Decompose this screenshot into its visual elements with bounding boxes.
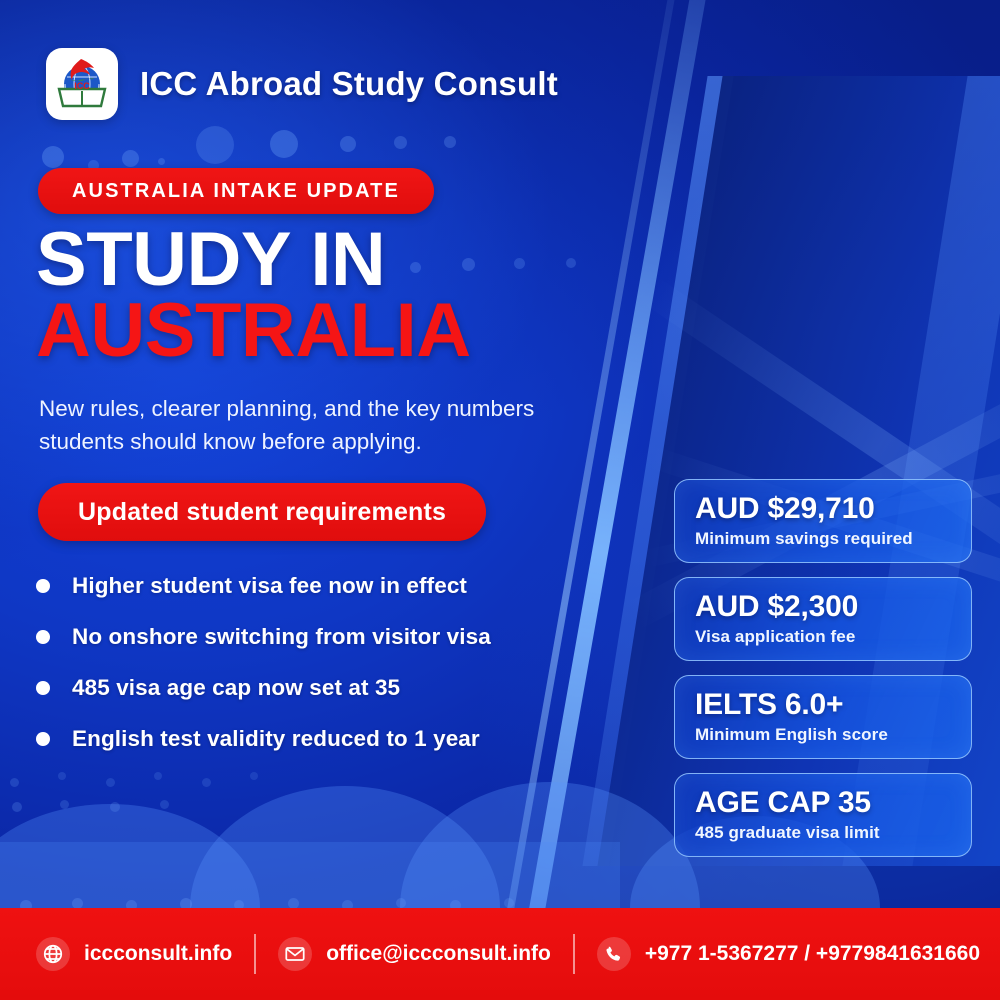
footer-phone-label: +977 1-5367277 / +9779841631660 <box>645 942 980 966</box>
contact-footer: iccconsult.info office@iccconsult.info +… <box>0 908 1000 1000</box>
stat-card-label: Minimum English score <box>695 725 971 745</box>
footer-website[interactable]: iccconsult.info <box>36 937 232 971</box>
stat-card-value: IELTS 6.0+ <box>695 688 971 722</box>
envelope-icon <box>278 937 312 971</box>
intake-update-badge: AUSTRALIA INTAKE UPDATE <box>38 168 434 214</box>
requirements-list: Higher student visa fee now in effect No… <box>36 560 596 764</box>
footer-divider <box>254 934 256 974</box>
footer-email[interactable]: office@iccconsult.info <box>278 937 551 971</box>
stat-card-value: AUD $29,710 <box>695 492 971 526</box>
list-item: Higher student visa fee now in effect <box>36 560 596 611</box>
bullet-dot-icon <box>36 579 50 593</box>
brand-logo: ICC <box>46 48 118 120</box>
bullet-dot-icon <box>36 630 50 644</box>
headline: STUDY IN AUSTRALIA <box>36 224 471 367</box>
stat-card: AGE CAP 35 485 graduate visa limit <box>674 773 972 857</box>
bullet-dot-icon <box>36 732 50 746</box>
stat-card: AUD $2,300 Visa application fee <box>674 577 972 661</box>
requirements-badge-label: Updated student requirements <box>78 498 446 527</box>
stat-card-list: AUD $29,710 Minimum savings required AUD… <box>674 479 972 871</box>
footer-email-label: office@iccconsult.info <box>326 942 551 966</box>
list-item-label: No onshore switching from visitor visa <box>72 624 491 650</box>
list-item: No onshore switching from visitor visa <box>36 611 596 662</box>
phone-icon <box>597 937 631 971</box>
stat-card-value: AGE CAP 35 <box>695 786 971 820</box>
icc-logo-icon: ICC <box>51 53 113 115</box>
intake-update-badge-label: AUSTRALIA INTAKE UPDATE <box>72 180 400 203</box>
stat-card-label: Minimum savings required <box>695 529 971 549</box>
brand-header: ICC ICC Abroad Study Consult <box>46 48 558 120</box>
list-item: 485 visa age cap now set at 35 <box>36 662 596 713</box>
requirements-badge: Updated student requirements <box>38 483 486 541</box>
headline-line-2: AUSTRALIA <box>36 295 471 366</box>
stat-card-label: 485 graduate visa limit <box>695 823 971 843</box>
background-glow <box>640 120 1000 540</box>
stat-card-label: Visa application fee <box>695 627 971 647</box>
brand-name: ICC Abroad Study Consult <box>140 65 558 103</box>
bullet-dot-icon <box>36 681 50 695</box>
stat-card: AUD $29,710 Minimum savings required <box>674 479 972 563</box>
list-item: English test validity reduced to 1 year <box>36 713 596 764</box>
globe-icon <box>36 937 70 971</box>
stat-card-value: AUD $2,300 <box>695 590 971 624</box>
footer-divider <box>573 934 575 974</box>
svg-text:ICC: ICC <box>74 81 90 91</box>
poster-canvas: ICC ICC Abroad Study Consult AUSTRALIA I… <box>0 0 1000 1000</box>
footer-phone[interactable]: +977 1-5367277 / +9779841631660 <box>597 937 980 971</box>
headline-line-1: STUDY IN <box>36 224 471 295</box>
list-item-label: 485 visa age cap now set at 35 <box>72 675 400 701</box>
subheading: New rules, clearer planning, and the key… <box>39 392 599 459</box>
list-item-label: English test validity reduced to 1 year <box>72 726 480 752</box>
cloud-band <box>0 842 620 908</box>
stat-card: IELTS 6.0+ Minimum English score <box>674 675 972 759</box>
list-item-label: Higher student visa fee now in effect <box>72 573 467 599</box>
footer-website-label: iccconsult.info <box>84 942 232 966</box>
